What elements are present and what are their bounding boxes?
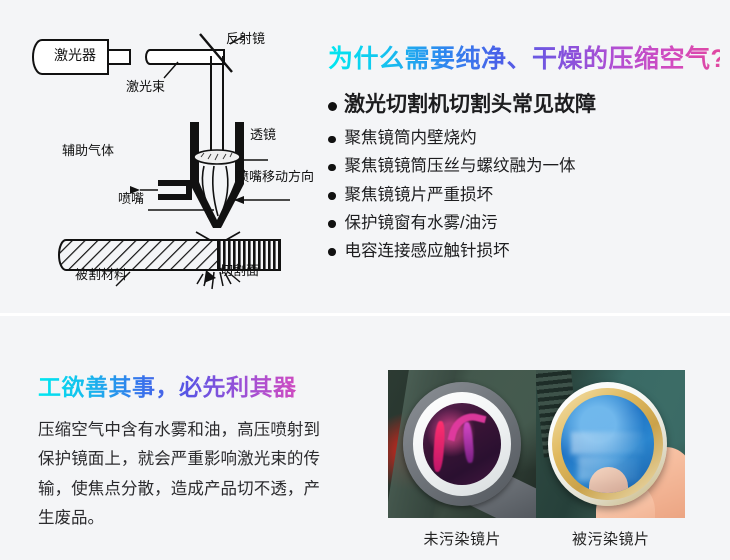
diagram-label-cut-surface: 切割面 [220,260,259,279]
list-item-label: 聚焦镜镜片严重损坏 [345,186,494,204]
bullet-dot-icon [328,248,336,256]
list-item-label: 保护镜窗有水雾/油污 [345,214,498,232]
list-item-label: 激光切割机切割头常见故障 [344,93,596,116]
reflection-streak [432,420,446,472]
lens-glass [561,395,653,493]
bottom-section: 工欲善其事，必先利其器 压缩空气中含有水雾和油，高压喷射到保护镜面上，就会严重影… [0,316,730,560]
clean-lens-photo [388,370,536,518]
list-item: 激光切割机切割头常见故障 [328,93,720,116]
diagram-label-nozzle: 喷嘴 [118,188,144,207]
diagram-label-nozzle-move-direction: 喷嘴移动方向 [236,166,314,185]
list-item: 电容连接感应触针损坏 [328,242,720,260]
list-item: 聚焦镜镜片严重损坏 [328,186,720,204]
lens-photo-pair [388,370,685,518]
top-section: 激光器 反射镜 激光束 透镜 辅助气体 喷嘴移动方向 喷嘴 被割材料 切割面 为… [0,0,730,315]
bottom-heading: 工欲善其事，必先利其器 [38,368,338,402]
diagram-label-lens: 透镜 [250,124,276,143]
bottom-body-text: 压缩空气中含有水雾和油，高压喷射到保护镜面上，就会严重影响激光束的传输，使焦点分… [38,416,320,533]
bullet-dot-icon [328,220,336,228]
top-text-column: 为什么需要纯净、干燥的压缩空气? 激光切割机切割头常见故障 聚焦镜筒内壁烧灼 聚… [328,44,720,270]
caption-contaminated-lens: 被污染镜片 [537,528,686,549]
caption-clean-lens: 未污染镜片 [388,528,537,549]
bullet-dot-icon [328,164,336,172]
bottom-text-column: 工欲善其事，必先利其器 压缩空气中含有水雾和油，高压喷射到保护镜面上，就会严重影… [38,368,338,533]
laser-cutting-head-schematic: 激光器 反射镜 激光束 透镜 辅助气体 喷嘴移动方向 喷嘴 被割材料 切割面 [18,14,318,294]
top-heading: 为什么需要纯净、干燥的压缩空气? [328,44,720,75]
list-item: 保护镜窗有水雾/油污 [328,214,720,232]
bullet-dot-icon [328,136,336,144]
fault-list: 激光切割机切割头常见故障 聚焦镜筒内壁烧灼 聚焦镜镜筒压丝与螺纹融为一体 聚焦镜… [328,93,720,260]
diagram-label-assist-gas: 辅助气体 [62,140,114,159]
photo-captions: 未污染镜片 被污染镜片 [388,528,685,549]
page-root: 激光器 反射镜 激光束 透镜 辅助气体 喷嘴移动方向 喷嘴 被割材料 切割面 为… [0,0,730,560]
list-item-label: 聚焦镜镜筒压丝与螺纹融为一体 [345,157,576,175]
diagram-label-laser-beam: 激光束 [126,76,165,95]
list-item-label: 电容连接感应触针损坏 [345,242,510,260]
list-item: 聚焦镜镜筒压丝与螺纹融为一体 [328,157,720,175]
list-item: 聚焦镜筒内壁烧灼 [328,129,720,147]
bullet-dot-icon [328,192,336,200]
diagram-label-laser-source: 激光器 [54,45,96,65]
contamination-smudge [571,432,645,453]
diagram-label-mirror: 反射镜 [226,28,265,47]
diagram-label-cut-material: 被割材料 [75,264,127,283]
contaminated-lens-photo [536,370,685,518]
bullet-dot-icon [328,102,337,111]
list-item-label: 聚焦镜筒内壁烧灼 [345,129,477,147]
lens-glass [423,403,501,486]
